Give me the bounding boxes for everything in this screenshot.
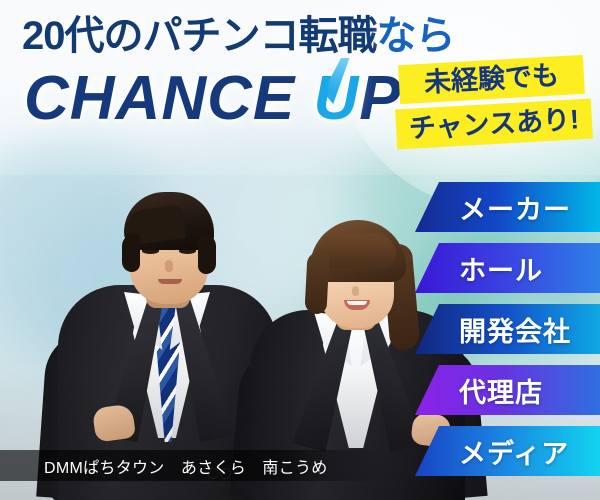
headline-tail: なら	[377, 14, 455, 58]
badge-no-experience-label: 未経験でも	[423, 62, 559, 96]
badge-chance-available-label: チャンスあり!	[408, 106, 579, 142]
category-label-media: メディア	[459, 432, 569, 471]
headline-main: 20代のパチンコ転職	[22, 14, 377, 58]
category-item-developer[interactable]: 開発会社	[415, 304, 600, 354]
category-label-agency: 代理店	[459, 371, 543, 410]
category-item-agency[interactable]: 代理店	[415, 365, 600, 415]
recruitment-banner: 20代のパチンコ転職なら CHANCE UP 未経験でも チャンスあり! メーカ…	[0, 0, 600, 500]
category-item-maker[interactable]: メーカー	[415, 182, 600, 232]
logo-chance-text: CHANCE	[24, 64, 313, 133]
page-title: 20代のパチンコ転職なら	[22, 16, 455, 56]
logo-u-letter: U	[313, 64, 359, 133]
category-item-hall[interactable]: ホール	[415, 243, 600, 293]
category-label-hall: ホール	[459, 249, 543, 288]
category-label-developer: 開発会社	[459, 310, 571, 349]
caption-bar: DMMぱちタウン あさくら 南こうめ	[0, 450, 382, 481]
logo-up-group: U	[313, 68, 359, 130]
chance-up-logo: CHANCE UP	[24, 68, 402, 130]
category-label-maker: メーカー	[459, 188, 571, 227]
category-item-media[interactable]: メディア	[415, 426, 600, 476]
caption-text: DMMぱちタウン あさくら 南こうめ	[0, 454, 328, 478]
